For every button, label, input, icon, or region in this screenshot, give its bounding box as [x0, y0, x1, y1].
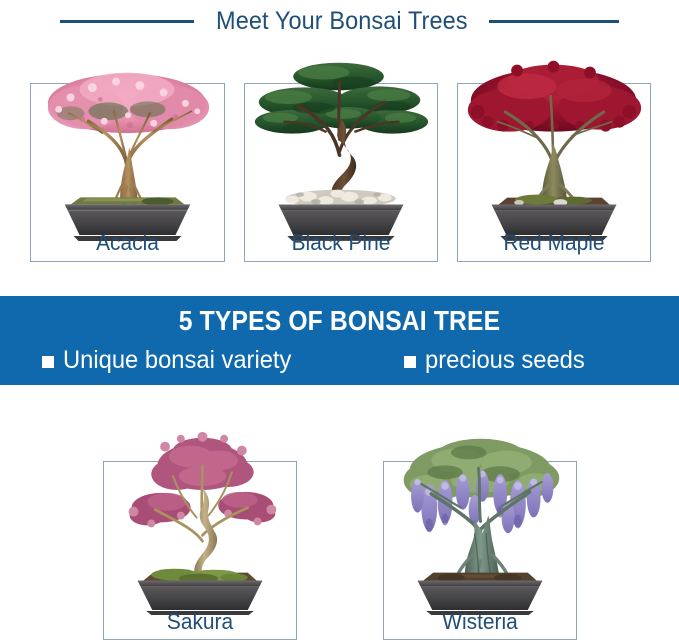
wisteria-bonsai-image	[384, 420, 576, 614]
sakura-bonsai-image	[104, 420, 296, 614]
banner-bullet-list: Unique bonsai variety precious seeds	[0, 346, 679, 378]
black-pine-bonsai-image	[245, 58, 437, 236]
banner-headline: 5 TYPES OF BONSAI TREE	[41, 305, 639, 337]
banner-bullet-item: Unique bonsai variety	[42, 346, 303, 375]
banner-bullet-label: Unique bonsai variety	[63, 346, 291, 375]
tree-card-wisteria[interactable]: Wisteria	[383, 461, 577, 640]
tree-card-label: Acacia	[36, 230, 219, 256]
tree-card-sakura[interactable]: Sakura	[103, 461, 297, 640]
tree-card-label: Wisteria	[389, 609, 571, 635]
square-bullet-icon	[42, 356, 54, 368]
banner-bullet-item: precious seeds	[404, 346, 593, 375]
acacia-bonsai-image	[31, 58, 224, 236]
page-header: Meet Your Bonsai Trees	[0, 0, 679, 42]
header-rule-right	[489, 20, 619, 23]
tree-card-label: Sakura	[109, 609, 291, 635]
page-title: Meet Your Bonsai Trees	[216, 7, 468, 36]
banner-bullet-label: precious seeds	[425, 346, 585, 375]
square-bullet-icon	[404, 356, 416, 368]
tree-card-red-maple[interactable]: Red Maple	[457, 83, 651, 262]
header-rule-left	[60, 20, 194, 23]
promo-banner: 5 TYPES OF BONSAI TREE Unique bonsai var…	[0, 296, 679, 385]
tree-card-label: Black Pine	[250, 230, 432, 256]
tree-card-acacia[interactable]: Acacia	[30, 83, 225, 262]
tree-card-black-pine[interactable]: Black Pine	[244, 83, 438, 262]
tree-card-label: Red Maple	[463, 230, 645, 256]
red-maple-bonsai-image	[458, 58, 650, 236]
